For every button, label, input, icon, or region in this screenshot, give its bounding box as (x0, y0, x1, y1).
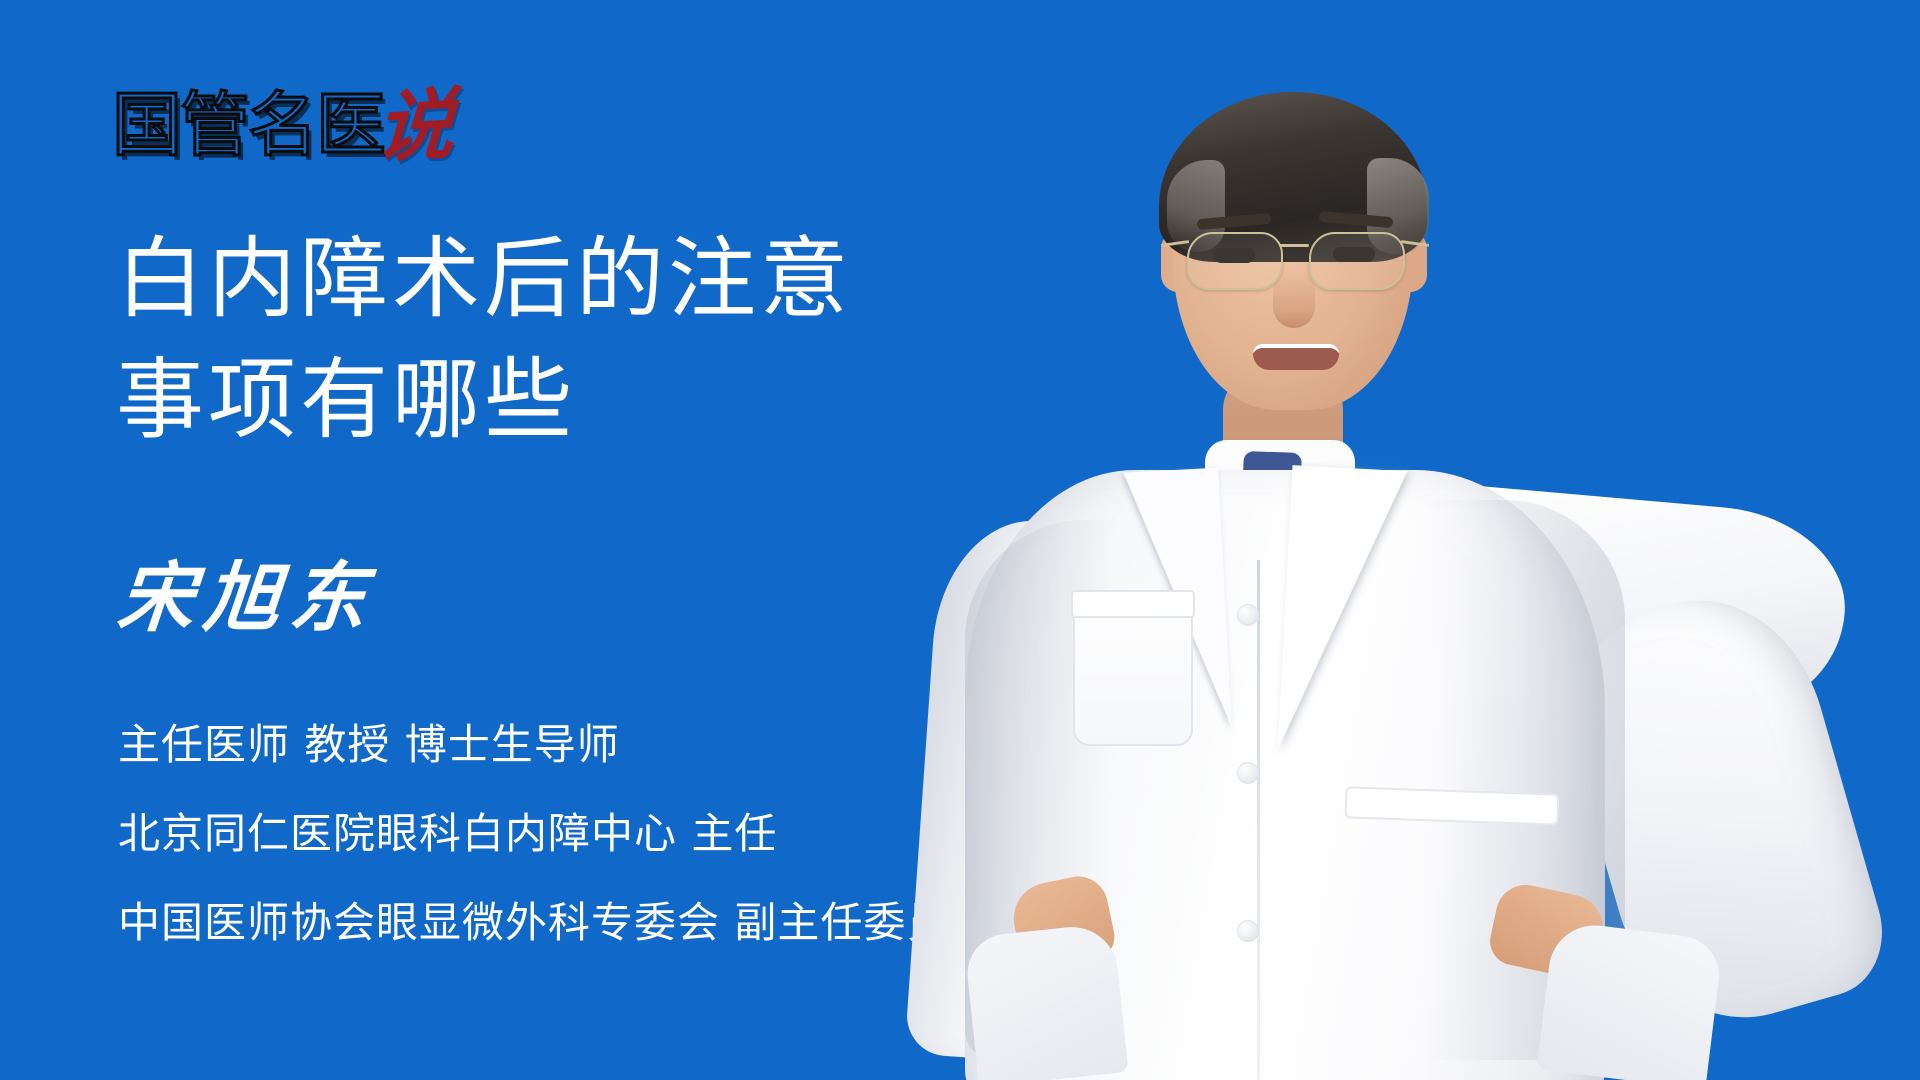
portrait-coat-button-1 (1237, 604, 1259, 626)
glasses-lens-right-icon (1309, 232, 1405, 290)
portrait-coat-chest-pocket-flap (1071, 590, 1195, 618)
program-logo-main-text: 国管名医 (112, 90, 386, 160)
portrait-coat-button-3 (1237, 920, 1259, 942)
page-title: 白内障术后的注意 事项有哪些 (116, 218, 1016, 461)
doctor-name: 宋旭东 (115, 560, 380, 636)
portrait-coat-cuff-left (964, 923, 1129, 1080)
portrait-mouth (1253, 344, 1339, 370)
program-logo: 国管名医 说 (112, 88, 454, 160)
portrait-coat-lapel-right (1278, 465, 1408, 756)
portrait-coat-button-2 (1237, 762, 1259, 784)
portrait-coat-placket (1257, 560, 1260, 1080)
title-card: 国管名医 说 白内障术后的注意 事项有哪些 宋旭东 主任医师 教授 博士生导师 … (0, 0, 1920, 1080)
page-title-line-1: 白内障术后的注意 (116, 218, 1016, 339)
page-title-line-2: 事项有哪些 (116, 339, 1016, 460)
glasses-bridge-icon (1279, 244, 1309, 247)
portrait-nose (1273, 272, 1315, 328)
doctor-portrait (905, 0, 1920, 1080)
portrait-coat-cuff-right (1536, 920, 1723, 1080)
program-logo-accent-text: 说 (374, 86, 456, 168)
glasses-lens-left-icon (1187, 232, 1283, 290)
